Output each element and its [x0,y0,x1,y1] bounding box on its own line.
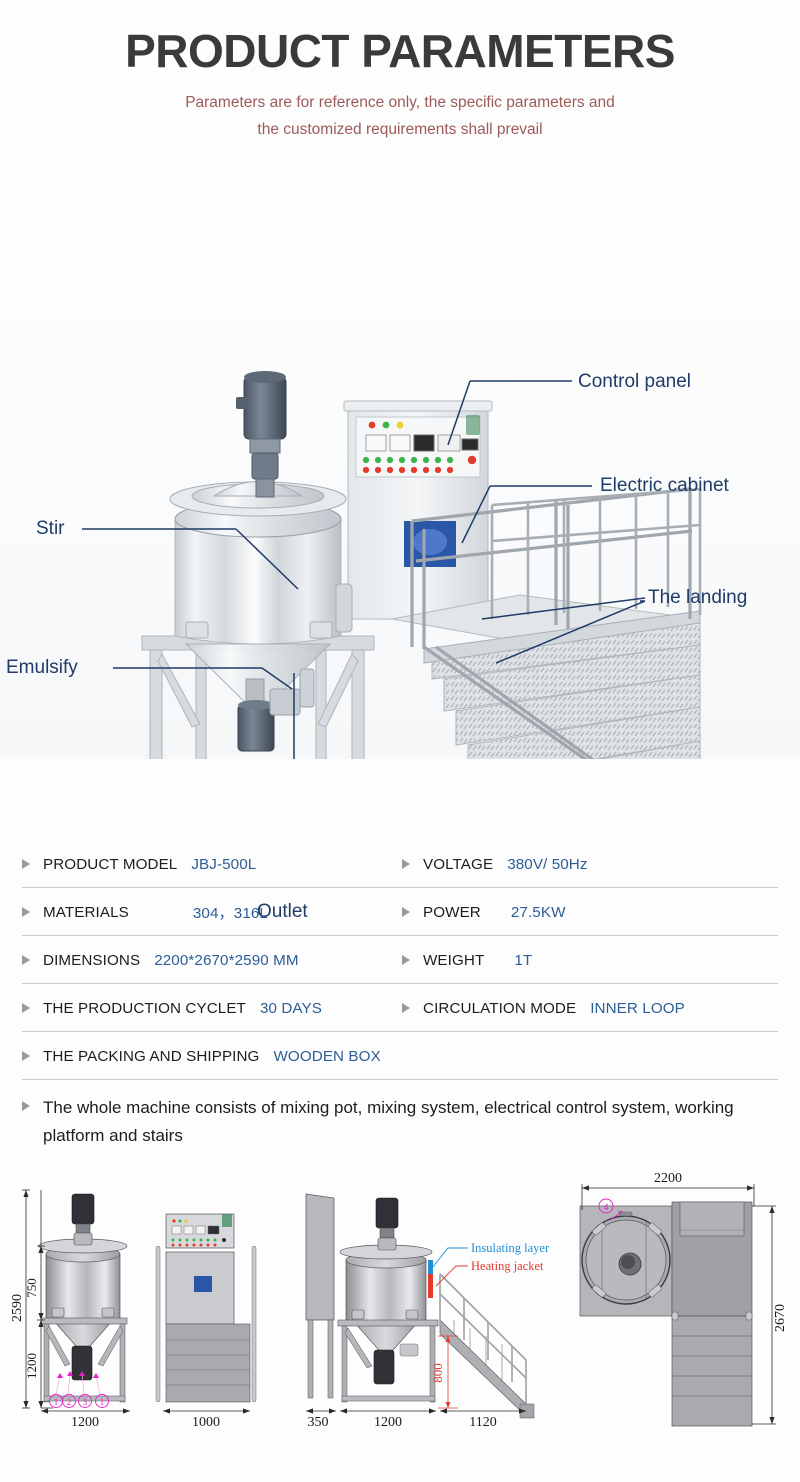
table-row: THE PRODUCTION CYCLET 30 DAYS CIRCULATIO… [22,984,778,1032]
technical-drawings: 2590 750 1200 1200 1000 1 2 [0,1168,800,1478]
spec-label: MATERIALS [43,904,129,921]
table-row: DIMENSIONS 2200*2670*2590 MM WEIGHT 1T [22,936,778,984]
triangle-bullet-icon [402,859,410,869]
machine-illustration [0,149,800,759]
dim-width: 2200 [654,1171,682,1186]
callout-stir: Stir [36,518,65,540]
specifications-table: PRODUCT MODEL JBJ-500L VOLTAGE 380V/ 50H… [22,840,778,1149]
marker-4: 4 [604,1203,609,1213]
dim-total-height: 2590 [10,1294,25,1322]
dim-frame-height: 1200 [24,1353,39,1379]
machine-composition-note: The whole machine consists of mixing pot… [22,1080,778,1149]
callout-control-panel: Control panel [578,371,691,393]
spec-voltage: VOLTAGE 380V/ 50Hz [402,856,778,873]
spec-product-model: PRODUCT MODEL JBJ-500L [22,856,402,873]
page-title: PRODUCT PARAMETERS [0,26,800,77]
spec-label: VOLTAGE [423,856,493,873]
spec-value: 304，316L [193,901,268,923]
triangle-bullet-icon [22,1101,30,1111]
label-heating-jacket: Heating jacket [471,1259,544,1273]
callout-the-landing: The landing [648,587,747,609]
spec-production-cyclet: THE PRODUCTION CYCLET 30 DAYS [22,1000,402,1017]
spec-value: 27.5KW [511,904,566,921]
spec-label: THE PRODUCTION CYCLET [43,1000,246,1017]
spec-label: THE PACKING AND SHIPPING [43,1048,259,1065]
triangle-bullet-icon [22,859,30,869]
marker-2: 2 [67,1397,72,1407]
triangle-bullet-icon [22,1003,30,1013]
table-row: PRODUCT MODEL JBJ-500L VOLTAGE 380V/ 50H… [22,840,778,888]
callout-emulsify: Emulsify [6,657,78,679]
drawing-front-elevation: 2590 750 1200 1200 1000 1 2 [8,1168,280,1478]
callout-electric-cabinet: Electric cabinet [600,475,729,497]
dim-tank-height: 750 [24,1278,39,1298]
spec-label: WEIGHT [423,952,484,969]
dim-stair-height: 800 [430,1363,445,1383]
spec-label: PRODUCT MODEL [43,856,177,873]
spec-value: 30 DAYS [260,1000,322,1017]
table-row: THE PACKING AND SHIPPING WOODEN BOX [22,1032,778,1080]
spec-label: DIMENSIONS [43,952,140,969]
drawing-side-elevation: Insulating layer Heating jacket 350 1200… [288,1168,566,1478]
spec-weight: WEIGHT 1T [402,952,778,969]
product-parameters-page: PRODUCT PARAMETERS Parameters are for re… [0,0,800,1482]
spec-value: WOODEN BOX [273,1048,380,1065]
marker-1: 1 [54,1397,59,1407]
dim-cabinet-width: 1000 [192,1415,220,1430]
note-text: The whole machine consists of mixing pot… [43,1094,778,1149]
triangle-bullet-icon [402,1003,410,1013]
spec-packing-shipping: THE PACKING AND SHIPPING WOODEN BOX [22,1048,778,1065]
triangle-bullet-icon [22,955,30,965]
dim-stair-run: 1120 [469,1415,496,1430]
dim-machine-width: 1200 [374,1415,402,1430]
spec-label: CIRCULATION MODE [423,1000,576,1017]
page-header: PRODUCT PARAMETERS Parameters are for re… [0,0,800,143]
spec-label: POWER [423,904,481,921]
dim-depth: 2670 [773,1304,788,1332]
table-row: MATERIALS 304，316L POWER 27.5KW [22,888,778,936]
spec-value: 1T [514,952,532,969]
spec-power: POWER 27.5KW [402,904,778,921]
triangle-bullet-icon [22,1051,30,1061]
electric-cabinet-graphic [344,401,492,619]
stirrer-motor-graphic [236,371,286,497]
drawing-top-view: 2200 2670 4 [568,1168,800,1478]
subtitle-line-2: the customized requirements shall prevai… [0,116,800,143]
spec-dimensions: DIMENSIONS 2200*2670*2590 MM [22,952,402,969]
page-subtitle: Parameters are for reference only, the s… [0,89,800,143]
product-photo: Control panel Electric cabinet The landi… [0,149,800,759]
spec-value: INNER LOOP [590,1000,685,1017]
spec-value: 380V/ 50Hz [507,856,587,873]
triangle-bullet-icon [402,907,410,917]
marker-4: 1 [100,1397,105,1407]
subtitle-line-1: Parameters are for reference only, the s… [0,89,800,116]
spec-value: JBJ-500L [191,856,256,873]
label-insulating-layer: Insulating layer [471,1241,550,1255]
spec-materials: MATERIALS 304，316L [22,901,402,923]
triangle-bullet-icon [22,907,30,917]
dim-machine-width: 1200 [71,1415,99,1430]
spec-value: 2200*2670*2590 MM [154,952,298,969]
dim-platform-offset: 350 [308,1415,329,1430]
spec-circulation-mode: CIRCULATION MODE INNER LOOP [402,1000,778,1017]
marker-3: 3 [83,1397,88,1407]
triangle-bullet-icon [402,955,410,965]
